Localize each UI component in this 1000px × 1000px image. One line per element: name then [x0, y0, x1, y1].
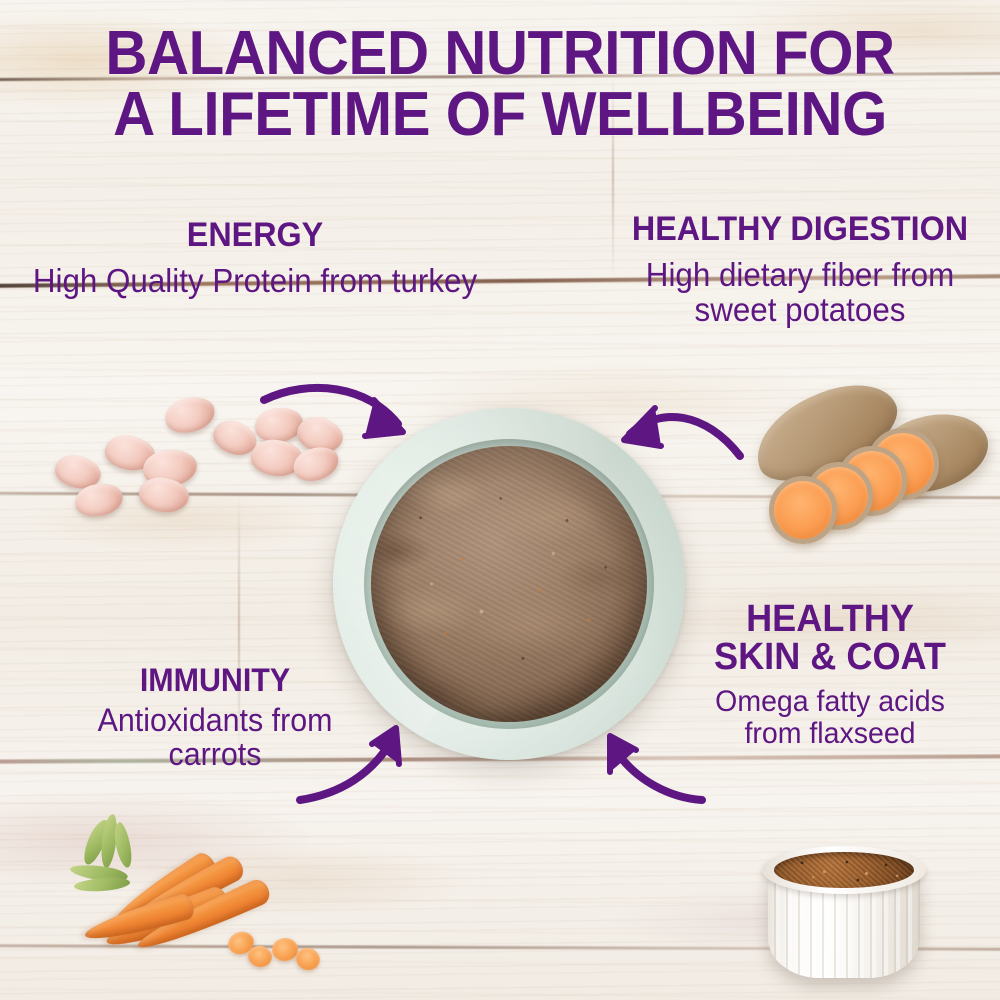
food-bowl [333, 408, 685, 760]
benefit-energy: ENERGY High Quality Protein from turkey [0, 218, 510, 299]
benefit-healthy-skin-coat-heading-line-2: SKIN & COAT [669, 638, 992, 676]
benefit-healthy-digestion-description-line-1: High dietary fiber from [610, 258, 990, 293]
turkey-chunk [162, 392, 219, 437]
benefit-healthy-skin-coat-heading-line-1: HEALTHY [669, 600, 992, 638]
benefit-energy-description: High Quality Protein from turkey [13, 264, 498, 299]
benefit-healthy-skin-coat-heading: HEALTHY SKIN & COAT [669, 600, 992, 676]
nutrition-infographic: BALANCED NUTRITION FOR A LIFETIME OF WEL… [0, 0, 1000, 1000]
page-title-line-2: A LIFETIME OF WELLBEING [30, 85, 970, 146]
pate-food [371, 446, 647, 722]
carrot-greens [74, 876, 131, 893]
benefit-healthy-skin-coat: HEALTHY SKIN & COAT Omega fatty acids fr… [660, 600, 1000, 750]
benefit-healthy-digestion-description-line-2: sweet potatoes [610, 293, 990, 328]
ingredient-carrots [40, 812, 340, 987]
flaxseed-texture [774, 852, 914, 888]
ingredient-flaxseed-ramekin [768, 830, 928, 990]
benefit-healthy-digestion: HEALTHY DIGESTION High dietary fiber fro… [600, 212, 1000, 328]
carrot-greens [111, 821, 134, 869]
pate-edge-shadow [371, 446, 647, 722]
ingredient-sweet-potato [745, 388, 995, 568]
benefit-healthy-skin-coat-description-line-2: from flaxseed [669, 718, 992, 750]
benefit-healthy-digestion-description: High dietary fiber from sweet potatoes [610, 258, 990, 328]
benefit-healthy-skin-coat-description-line-1: Omega fatty acids [669, 686, 992, 718]
sweet-potato-slice [769, 476, 837, 544]
benefit-healthy-digestion-heading: HEALTHY DIGESTION [610, 212, 990, 246]
page-title-line-1: BALANCED NUTRITION FOR [30, 24, 970, 85]
benefit-healthy-skin-coat-description: Omega fatty acids from flaxseed [669, 686, 992, 750]
benefit-energy-heading: ENERGY [13, 218, 498, 252]
flaxseed-fill [774, 852, 914, 888]
ingredient-turkey-chunks [55, 396, 320, 526]
turkey-chunk [253, 405, 305, 445]
page-title: BALANCED NUTRITION FOR A LIFETIME OF WEL… [30, 24, 970, 146]
